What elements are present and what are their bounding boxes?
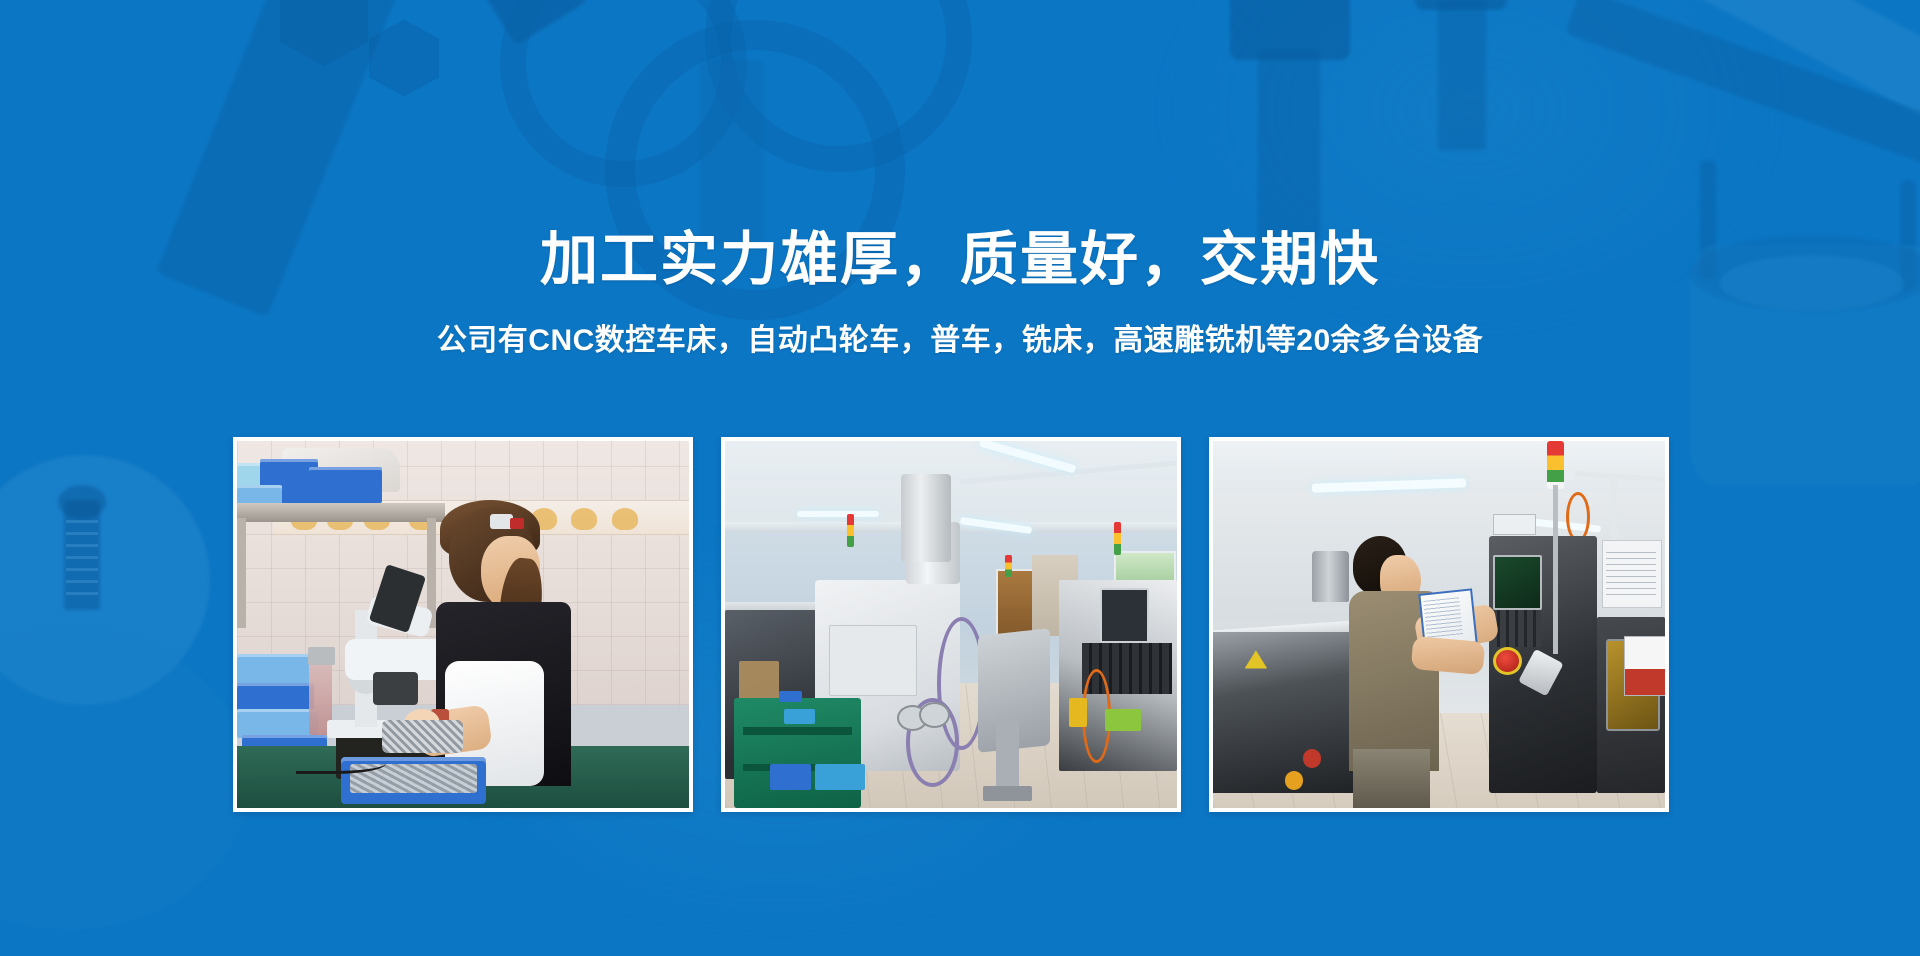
page-subtitle: 公司有CNC数控车床，自动凸轮车，普车，铣床，高速雕铣机等20余多台设备: [0, 323, 1920, 359]
ring-part-icon: [705, 0, 972, 172]
bolt-head-icon: [58, 485, 106, 519]
disc-part-icon: [0, 455, 210, 705]
bolt-head-icon: [1230, 0, 1350, 60]
banner-text-block: 加工实力雄厚，质量好，交期快 公司有CNC数控车床，自动凸轮车，普车，铣床，高速…: [0, 230, 1920, 359]
photo-frame-cnc-workshop[interactable]: [721, 437, 1181, 812]
promo-banner: 加工实力雄厚，质量好，交期快 公司有CNC数控车床，自动凸轮车，普车，铣床，高速…: [0, 0, 1920, 956]
shaft-part-icon: [341, 0, 589, 46]
rod-part-icon: [1486, 0, 1920, 147]
bolt-head-icon: [1415, 0, 1507, 10]
photo-frame-quality-inspection[interactable]: [233, 437, 693, 812]
photo-frame-operator-panel[interactable]: [1209, 437, 1669, 812]
photo-operator-cnc-control-panel: [1213, 441, 1665, 808]
page-title: 加工实力雄厚，质量好，交期快: [0, 230, 1920, 291]
disc-part-icon: [0, 630, 250, 930]
photo-quality-inspection-microscope: [237, 441, 689, 808]
ring-part-icon: [500, 0, 747, 187]
bolt-shaft-icon: [64, 500, 100, 610]
photo-gallery: [233, 437, 1669, 812]
bolt-shaft-icon: [1438, 0, 1486, 150]
bolt-shaft-icon: [1258, 50, 1320, 240]
cylinder-part-icon: [700, 60, 764, 245]
rod-part-icon: [1565, 0, 1920, 180]
hex-screw-icon: [280, 0, 368, 66]
hex-screw-icon: [369, 20, 439, 97]
photo-cnc-machine-workshop: [725, 441, 1177, 808]
